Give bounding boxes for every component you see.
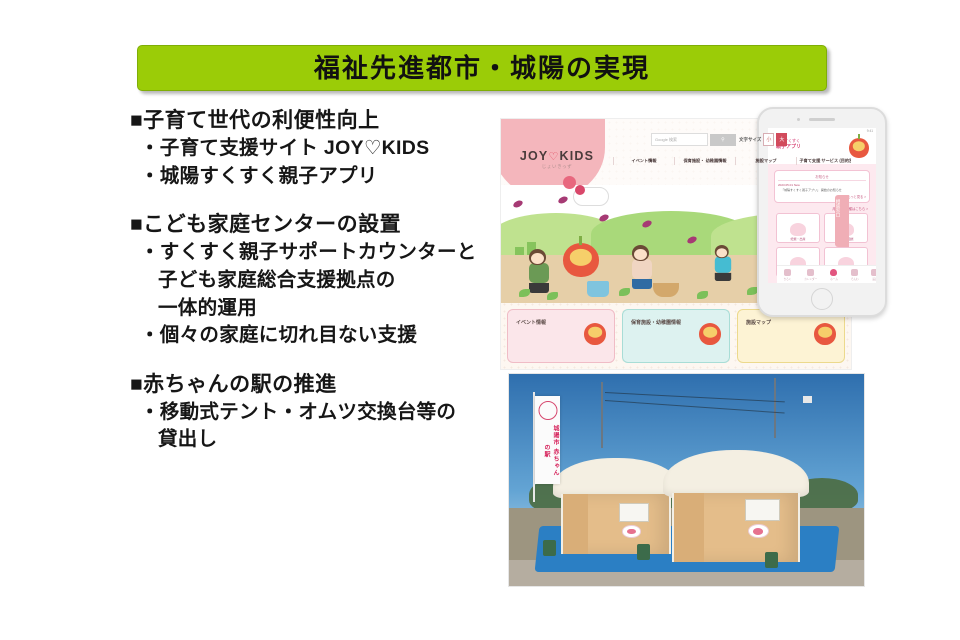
home-button[interactable] <box>811 288 833 310</box>
grid-header-link[interactable]: 月の予防接種はこちら > <box>768 206 868 211</box>
child-face <box>634 249 647 260</box>
home-icon <box>830 269 837 276</box>
mascot-face <box>818 327 832 338</box>
child-face <box>531 253 544 264</box>
tab-calendar[interactable]: カレンダー <box>804 269 817 281</box>
tent-sign <box>619 503 650 522</box>
notice-box[interactable]: お知らせ 2023.05.01 New 「城陽すくすく親子アプリ」 開始のお知ら… <box>774 170 870 203</box>
block-bullet: ・移動式テント・オムツ交換台等の <box>130 399 490 427</box>
slide-title-banner: 福祉先進都市・城陽の実現 <box>137 45 827 91</box>
mascot-face <box>588 327 602 338</box>
block-bullet: 子ども家庭総合支援拠点の <box>130 267 490 295</box>
baby-station-badge <box>748 524 769 538</box>
child-legs <box>715 273 731 281</box>
tab-record[interactable]: きろく <box>783 269 791 281</box>
utility-pole <box>601 382 603 448</box>
mascot-face <box>570 249 592 265</box>
mascot-icon <box>563 243 599 277</box>
banner-card-events[interactable]: イベント情報 <box>507 309 615 363</box>
content-block-3: ■赤ちゃんの駅の推進 ・移動式テント・オムツ交換台等の 貸出し <box>130 372 490 454</box>
distant-flag <box>803 396 812 403</box>
search-icon[interactable]: ⚲ <box>710 134 736 146</box>
child-body <box>715 256 731 272</box>
tab-label: きろく <box>783 277 791 281</box>
side-tab-label: 相談窓口 <box>835 195 841 221</box>
tab-home[interactable]: ホーム <box>830 269 838 281</box>
tent-leg <box>798 493 800 562</box>
child-illustration <box>632 245 652 289</box>
consultation-side-tab[interactable]: 相談窓口 <box>835 195 849 247</box>
app-grid-card[interactable]: 妊娠・出産 <box>776 213 820 243</box>
nav-item-support-services[interactable]: 子育て支援 サービス (目的別) <box>796 157 852 165</box>
child-illustration <box>529 249 549 293</box>
pencil-icon <box>784 269 791 276</box>
camera-icon <box>797 118 800 121</box>
slide-root: 福祉先進都市・城陽の実現 ■子育て世代の利便性向上 ・子育て支援サイト JOY♡… <box>0 0 960 640</box>
nav-item-events[interactable]: イベント情報 <box>613 157 674 165</box>
block-heading: ■子育て世代の利便性向上 <box>130 108 490 135</box>
flower-icon <box>563 176 576 189</box>
mascot-stem <box>579 236 582 246</box>
nav-item-nursery[interactable]: 保育施設・ 幼稚園情報 <box>674 157 735 165</box>
tent-leg <box>561 494 563 554</box>
block-bullet: 貸出し <box>130 426 490 454</box>
text-size-controls[interactable]: 文字サイズ 小 大 <box>739 133 787 146</box>
text-size-large-button[interactable]: 大 <box>776 133 787 146</box>
text-size-small-button[interactable]: 小 <box>763 133 774 146</box>
mascot-icon <box>584 323 606 345</box>
child-face <box>716 248 727 257</box>
tent-left <box>553 458 679 554</box>
phone-icon <box>851 269 858 276</box>
mascot-stem <box>858 134 860 140</box>
banner-card-label: 施設マップ <box>746 319 771 326</box>
baby-station-logo-icon <box>538 401 557 420</box>
banner-text: 城陽市 赤ちゃんの駅 <box>535 422 560 480</box>
child-legs <box>632 279 652 289</box>
banner-card-nursery[interactable]: 保育施設・幼稚園情報 <box>622 309 730 363</box>
tab-phone[interactable]: でんわ <box>851 269 859 281</box>
app-tab-bar[interactable]: きろく カレンダー ホーム でんわ 設定 <box>777 265 876 283</box>
tent-weight <box>765 552 778 568</box>
heart-icon: ♡ <box>548 151 559 163</box>
baby-station-banner: 城陽市 赤ちゃんの駅 <box>535 396 560 484</box>
mascot-icon <box>699 323 721 345</box>
page-title: 福祉先進都市・城陽の実現 <box>314 55 650 81</box>
notice-more-link[interactable]: もっと見る > <box>778 194 866 199</box>
tab-settings[interactable]: 設定 <box>871 269 876 281</box>
banner-card-label: イベント情報 <box>516 319 546 326</box>
tent-weight <box>543 540 556 556</box>
child-legs <box>529 283 549 293</box>
tab-label: 設定 <box>871 277 876 281</box>
notice-date: 2023.05.01 New <box>778 183 866 187</box>
speaker-grill <box>809 118 835 121</box>
search-input[interactable]: Google 検索 <box>651 133 708 146</box>
tab-label: でんわ <box>851 277 859 281</box>
content-block-1: ■子育て世代の利便性向上 ・子育て支援サイト JOY♡KIDS ・城陽すくすく親… <box>130 108 490 190</box>
website-nav[interactable]: イベント情報 保育施設・ 幼稚園情報 施設マップ 子育て支援 サービス (目的別… <box>613 157 852 165</box>
mascot-face <box>703 327 717 338</box>
tab-label: カレンダー <box>804 277 817 281</box>
notice-header: お知らせ <box>778 174 866 181</box>
calendar-icon <box>807 269 814 276</box>
flower-icon <box>575 185 585 195</box>
banner-card-facility-map[interactable]: 施設マップ <box>737 309 845 363</box>
app-grid-card-label: 妊娠・出産 <box>777 237 819 241</box>
mascot-face <box>853 142 865 152</box>
child-illustration <box>715 245 731 281</box>
logo-text-left: JOY <box>520 149 549 163</box>
banner-card-label: 保育施設・幼稚園情報 <box>631 319 681 326</box>
logo-text-right: KIDS <box>560 149 595 163</box>
tent-flap <box>561 494 589 554</box>
website-search[interactable]: Google 検索 ⚲ <box>651 133 736 146</box>
child-body <box>529 263 549 283</box>
website-banner-cards[interactable]: イベント情報 保育施設・幼稚園情報 施設マップ <box>507 309 845 363</box>
block-bullet: ・城陽すくすく親子アプリ <box>130 163 490 191</box>
tent-weight <box>637 544 650 560</box>
mascot-icon <box>849 138 869 158</box>
tent-roof <box>553 458 679 498</box>
phone-screen: 9:41 城陽すくすく 親子アプリ お知らせ 2023.05.01 New 「城… <box>768 128 876 283</box>
child-head <box>715 245 729 258</box>
baby-station-badge <box>622 525 640 538</box>
block-heading: ■赤ちゃんの駅の推進 <box>130 372 490 399</box>
block-bullet: ・すくすく親子サポートカウンターと <box>130 239 490 267</box>
tab-label: ホーム <box>830 277 838 281</box>
child-head <box>632 245 649 261</box>
tent-sign <box>745 499 781 521</box>
tent-right <box>663 450 809 562</box>
joykids-logo-subtitle: じょいきっず <box>511 164 603 170</box>
block-bullet: ・子育て支援サイト JOY♡KIDS <box>130 135 490 163</box>
utility-pole <box>774 378 776 438</box>
basket-icon <box>653 283 679 297</box>
joykids-logo: JOY♡KIDS <box>511 149 603 163</box>
child-body <box>632 259 652 279</box>
illustration-thumb <box>790 223 806 236</box>
tent-roof <box>663 450 809 497</box>
nav-item-facility-map[interactable]: 施設マップ <box>735 157 796 165</box>
content-text-column: ■子育て世代の利便性向上 ・子育て支援サイト JOY♡KIDS ・城陽すくすく親… <box>130 108 490 476</box>
text-size-label: 文字サイズ <box>739 137 761 143</box>
tent-flap <box>672 493 704 562</box>
tent-leg <box>672 493 674 562</box>
block-bullet: 一体的運用 <box>130 295 490 323</box>
block-bullet: ・個々の家庭に切れ目ない支援 <box>130 322 490 350</box>
status-time: 9:41 <box>867 129 873 133</box>
baby-station-tent-photo: 城陽市 赤ちゃんの駅 <box>508 373 865 587</box>
block-heading: ■こども家庭センターの設置 <box>130 212 490 239</box>
child-head <box>529 249 546 265</box>
mascot-icon <box>814 323 836 345</box>
bucket-icon <box>587 281 609 297</box>
notice-body: 「城陽すくすく親子アプリ」 開始のお知らせ <box>778 188 866 193</box>
gear-icon <box>871 269 876 276</box>
content-block-2: ■こども家庭センターの設置 ・すくすく親子サポートカウンターと 子ども家庭総合支… <box>130 212 490 350</box>
